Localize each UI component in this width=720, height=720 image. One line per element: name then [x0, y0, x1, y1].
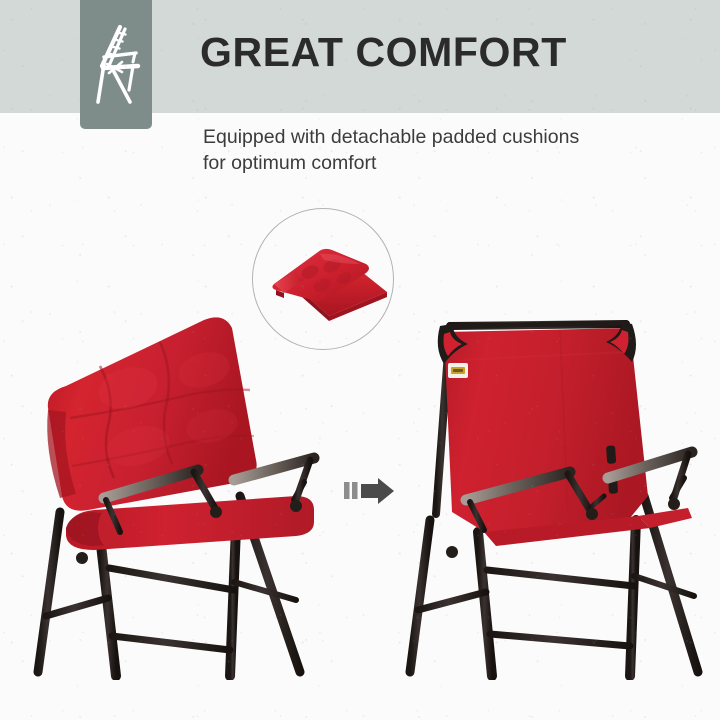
- chair-without-cushion: [392, 300, 720, 680]
- infographic-page: GREAT COMFORT Equipped with detachable p…: [0, 0, 720, 720]
- chair-with-cushion: [8, 300, 348, 680]
- transition-arrow: [344, 478, 394, 504]
- header-icon-tile: [80, 0, 152, 129]
- subtitle-line-1: Equipped with detachable padded cushions: [203, 124, 633, 150]
- page-subtitle: Equipped with detachable padded cushions…: [203, 124, 633, 176]
- page-title: GREAT COMFORT: [200, 32, 567, 73]
- subtitle-line-2: for optimum comfort: [203, 150, 633, 176]
- folding-chair-icon: [89, 24, 143, 106]
